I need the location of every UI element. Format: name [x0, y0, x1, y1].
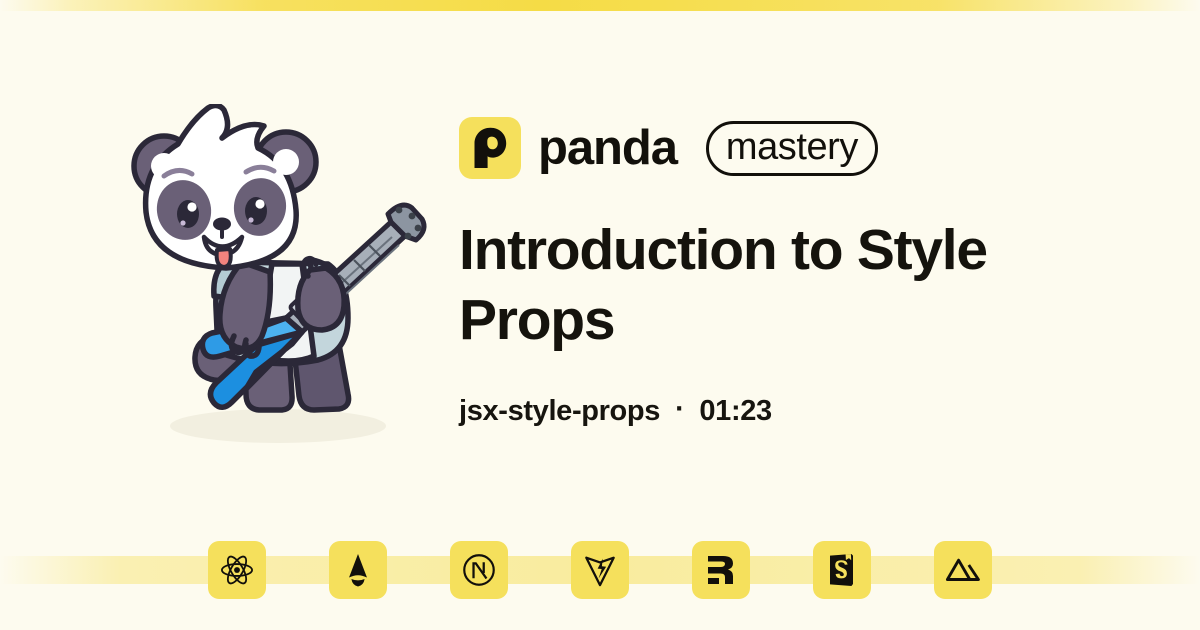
vite-icon — [571, 541, 629, 599]
framework-icon-row — [0, 541, 1200, 599]
remix-icon — [692, 541, 750, 599]
meta-row: jsx-style-props · 01:23 — [459, 395, 1149, 428]
framework-strip — [0, 510, 1200, 630]
brand-lockup: panda mastery — [459, 118, 1149, 178]
lesson-slug: jsx-style-props — [459, 395, 660, 428]
brand-badge: mastery — [706, 121, 878, 176]
lesson-duration: 01:23 — [699, 395, 771, 428]
panda-p-logo-icon — [459, 117, 521, 179]
page-title: Introduction to Style Props — [459, 216, 1059, 355]
og-card: panda mastery Introduction to Style Prop… — [0, 0, 1200, 630]
react-icon — [208, 541, 266, 599]
content-column: panda mastery Introduction to Style Prop… — [459, 118, 1149, 428]
brand-wordmark: panda — [538, 124, 677, 173]
astro-icon — [329, 541, 387, 599]
top-accent-bar — [0, 0, 1200, 11]
storybook-icon — [813, 541, 871, 599]
brand-badge-label: mastery — [726, 128, 858, 166]
meta-separator: · — [675, 395, 684, 424]
nuxt-icon — [934, 541, 992, 599]
panda-guitarist-mascot — [96, 104, 446, 454]
nextjs-icon — [450, 541, 508, 599]
